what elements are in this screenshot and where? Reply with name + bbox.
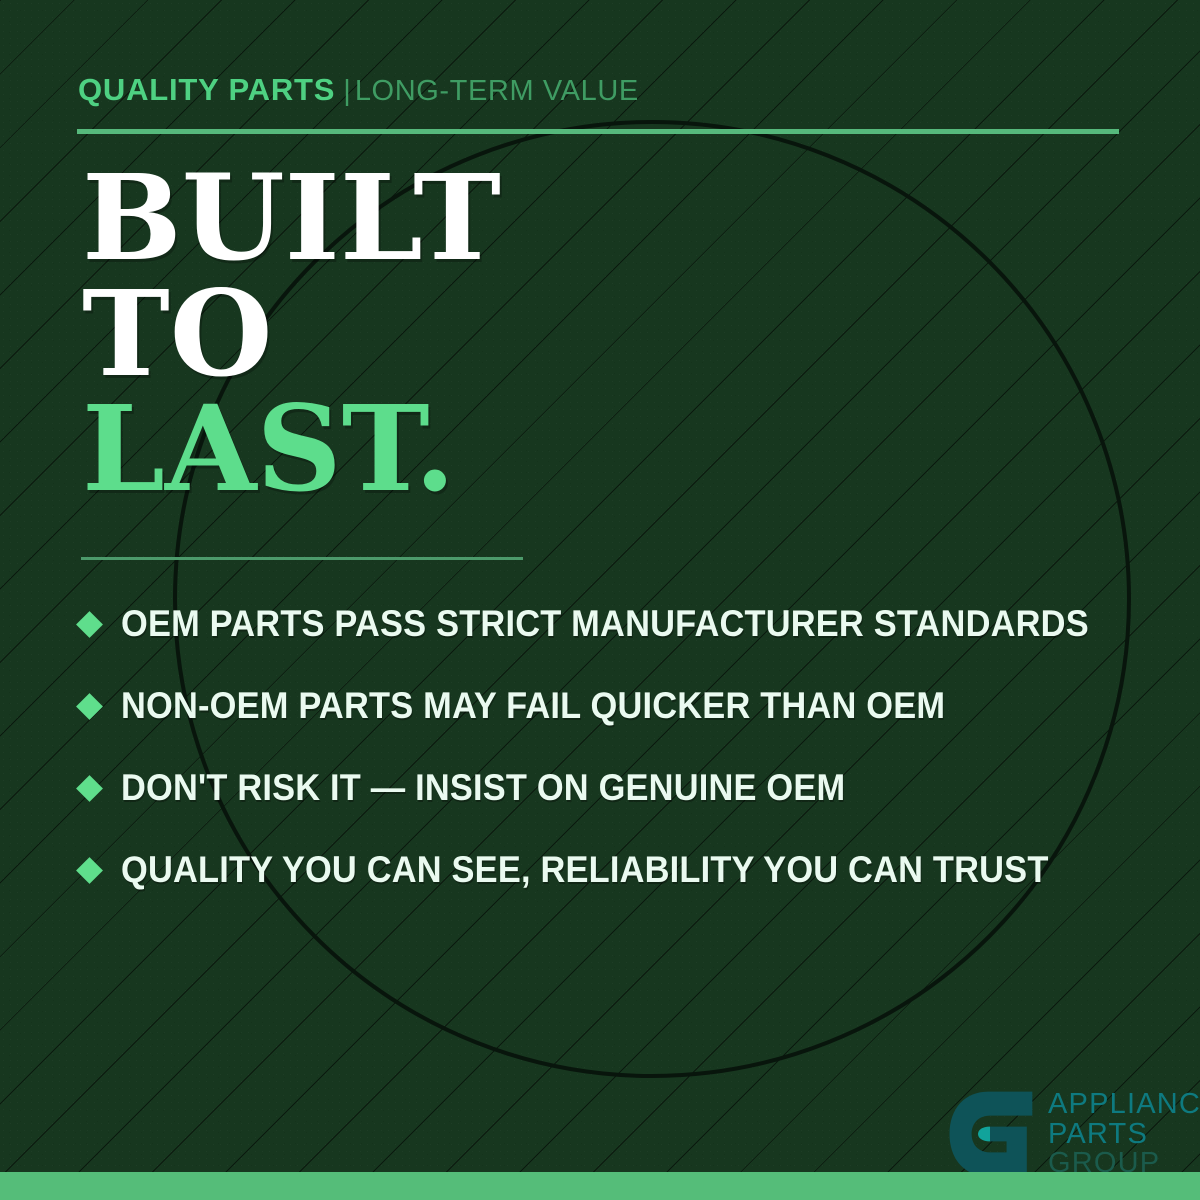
eyebrow-subtitle: LONG-TERM VALUE	[355, 75, 639, 107]
list-item-label: NON-OEM PARTS MAY FAIL QUICKER THAN OEM	[121, 685, 945, 727]
diamond-bullet-icon	[76, 857, 103, 884]
appliance-parts-group-g-icon	[944, 1088, 1036, 1180]
headline-line-2: TO	[82, 276, 722, 392]
diamond-bullet-icon	[76, 611, 103, 638]
diamond-bullet-icon	[76, 775, 103, 802]
header-divider-rule	[77, 129, 1119, 134]
list-item: DON'T RISK IT — INSIST ON GENUINE OEM	[80, 747, 1150, 829]
benefit-list: OEM PARTS PASS STRICT MANUFACTURER STAND…	[80, 583, 1150, 911]
brand-word-parts: PARTS	[1048, 1120, 1200, 1150]
eyebrow-separator: |	[335, 75, 355, 107]
poster-canvas: QUALITY PARTS|LONG-TERM VALUE BUILT TO L…	[0, 0, 1200, 1200]
list-item-label: DON'T RISK IT — INSIST ON GENUINE OEM	[121, 767, 845, 809]
headline-divider-rule	[81, 557, 523, 560]
list-item: QUALITY YOU CAN SEE, RELIABILITY YOU CAN…	[80, 829, 1150, 911]
list-item: NON-OEM PARTS MAY FAIL QUICKER THAN OEM	[80, 665, 1150, 747]
brand-logo: APPLIANCE PARTS GROUP	[944, 1088, 1200, 1180]
list-item-label: OEM PARTS PASS STRICT MANUFACTURER STAND…	[121, 603, 1089, 645]
eyebrow-kicker: QUALITY PARTS	[78, 72, 335, 107]
brand-word-appliance: APPLIANCE	[1048, 1090, 1200, 1120]
list-item-label: QUALITY YOU CAN SEE, RELIABILITY YOU CAN…	[121, 849, 1049, 891]
headline-line-1: BUILT	[82, 160, 722, 276]
diamond-bullet-icon	[76, 693, 103, 720]
brand-logo-wordmark: APPLIANCE PARTS GROUP	[1048, 1088, 1200, 1179]
headline-line-3: LAST.	[82, 391, 722, 507]
eyebrow-line: QUALITY PARTS|LONG-TERM VALUE	[78, 74, 639, 106]
page-title: BUILT TO LAST.	[82, 160, 722, 507]
list-item: OEM PARTS PASS STRICT MANUFACTURER STAND…	[80, 583, 1150, 665]
bottom-accent-bar	[0, 1172, 1200, 1200]
